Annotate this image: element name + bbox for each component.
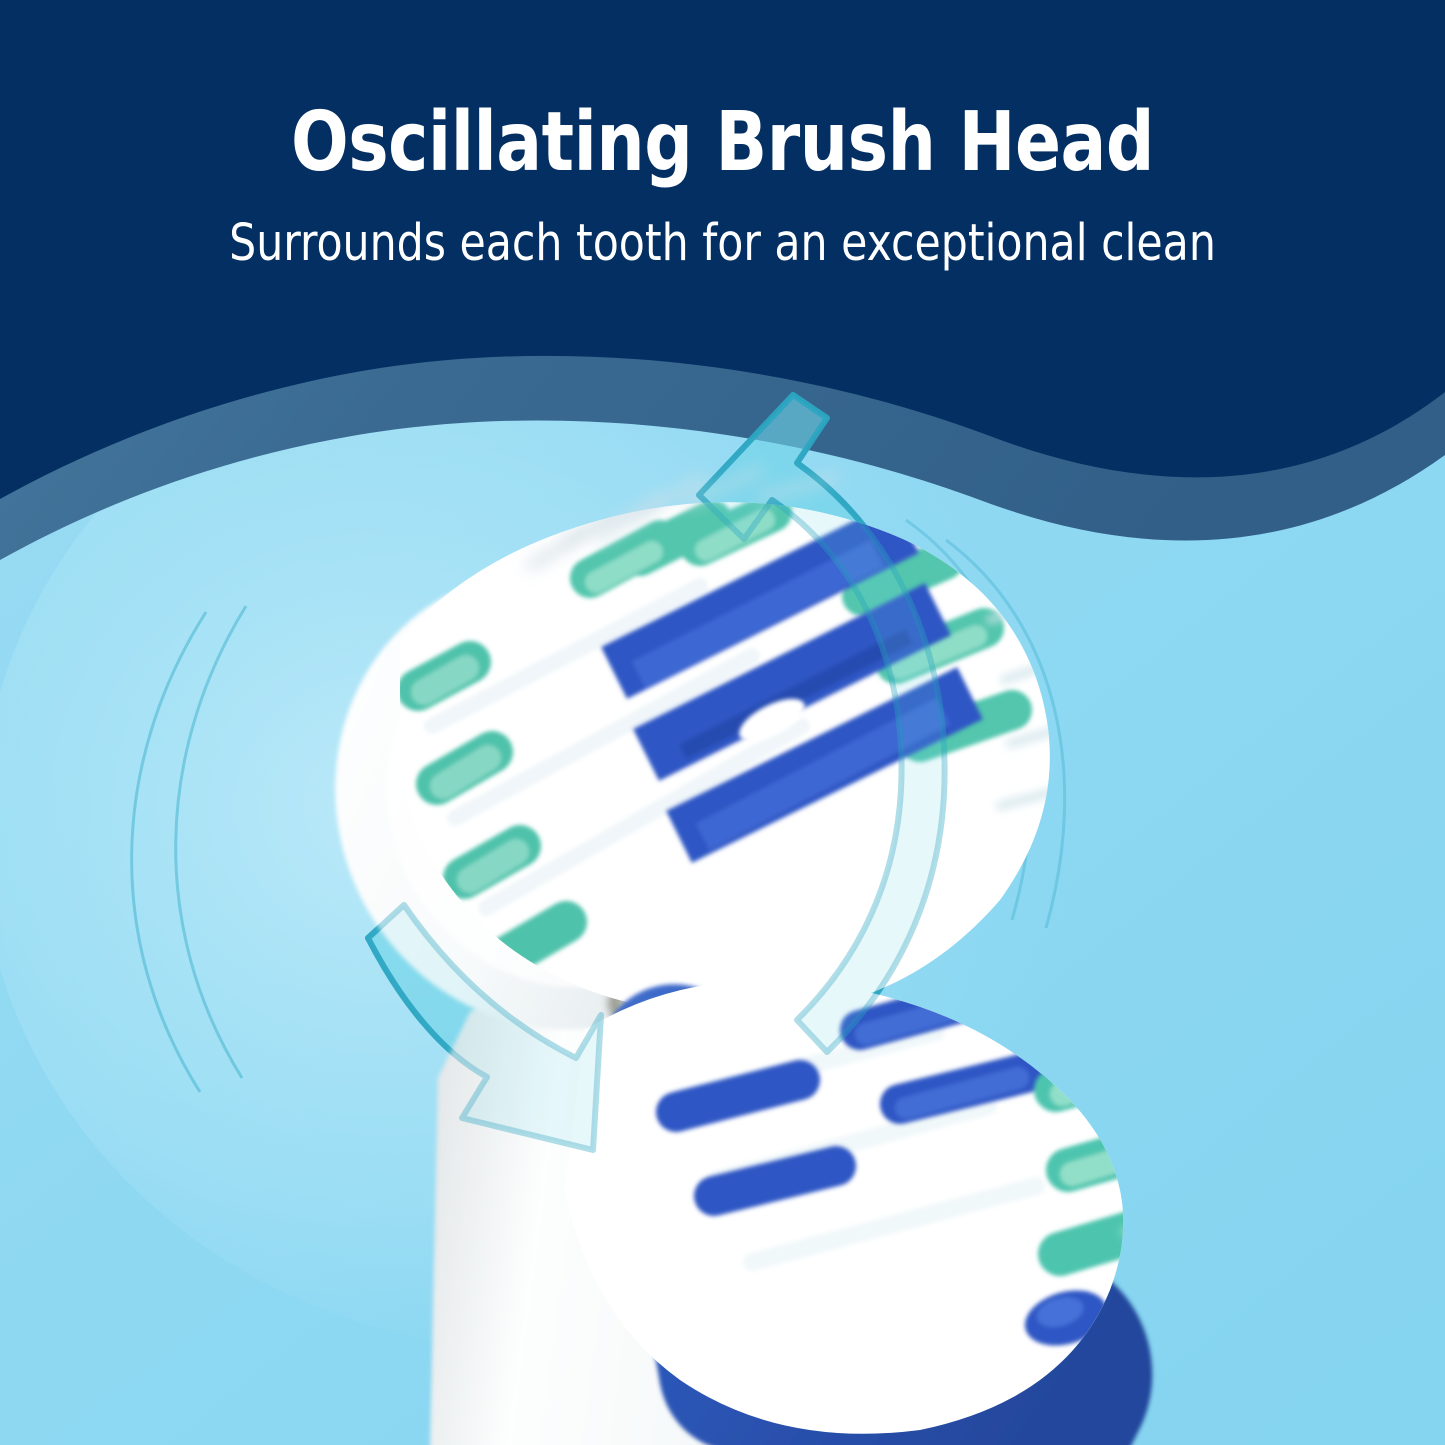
hero-illustration — [0, 0, 1445, 1445]
hero-banner: Oscillating Brush Head Surrounds each to… — [0, 0, 1445, 1445]
